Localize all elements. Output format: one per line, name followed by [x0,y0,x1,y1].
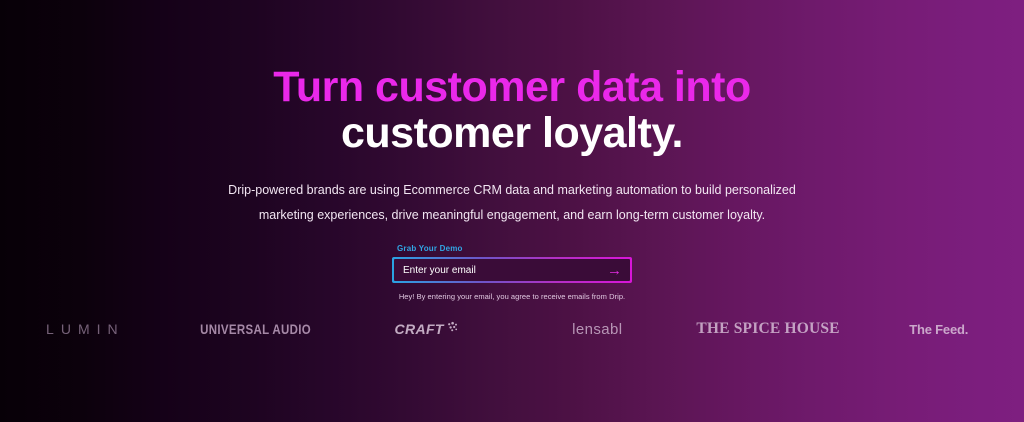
logo-the-feed-text: The Feed. [909,322,968,337]
arrow-right-icon[interactable]: → [605,263,624,278]
logo-the-spice-house: THE SPICE HOUSE [683,320,854,338]
form-disclaimer: Hey! By entering your email, you agree t… [392,292,632,301]
logo-lensabl: lensabl [512,321,683,338]
subheadline-line-1: Drip-powered brands are using Ecommerce … [222,178,802,203]
logo-universal-audio-text: UNIVERSAL AUDIO [201,321,312,337]
logo-universal-audio: UNIVERSAL AUDIO [171,321,342,337]
logo-craft: CRAFT [341,320,512,338]
email-input-wrapper: → [392,257,632,283]
logo-craft-text: CRAFT [394,321,443,337]
email-input[interactable] [403,265,605,276]
page-title: Turn customer data into customer loyalty… [273,64,750,156]
subheadline: Drip-powered brands are using Ecommerce … [222,178,802,228]
craft-dots-icon [447,320,459,338]
logo-lensabl-text: lensabl [572,321,622,338]
demo-signup-form: Grab Your Demo → Hey! By entering your e… [392,244,632,301]
email-input-inner: → [394,259,630,281]
logo-lumin: LUMIN [0,321,171,337]
headline-line-2: customer loyalty. [273,110,750,156]
logo-lumin-text: LUMIN [46,321,125,337]
hero-section: Turn customer data into customer loyalty… [0,0,1024,422]
headline-line-1: Turn customer data into [273,64,750,110]
partner-logo-row: LUMIN UNIVERSAL AUDIO CRAFT lensabl [0,312,1024,346]
logo-the-spice-house-text: THE SPICE HOUSE [696,320,839,338]
logo-the-feed: The Feed. [853,322,1024,337]
subheadline-line-2: marketing experiences, drive meaningful … [222,203,802,228]
form-label: Grab Your Demo [392,244,632,253]
